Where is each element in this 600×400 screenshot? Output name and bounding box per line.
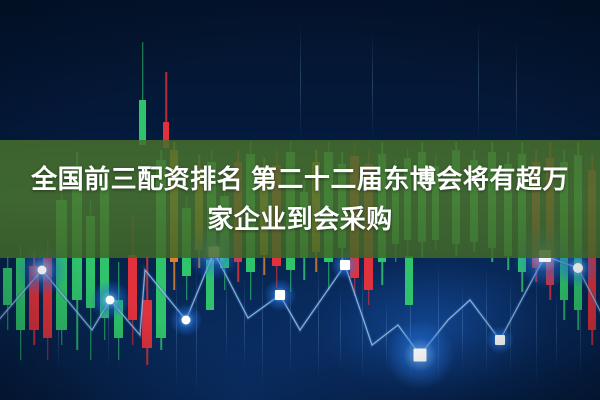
news-thumbnail-image: 全国前三配资排名 第二十二届东博会将有超万家企业到会采购 [0,0,600,400]
page-title: 全国前三配资排名 第二十二届东博会将有超万家企业到会采购 [20,159,580,239]
headline-band: 全国前三配资排名 第二十二届东博会将有超万家企业到会采购 [0,140,600,258]
headline-line-2: 企业到会采购 [234,204,393,234]
